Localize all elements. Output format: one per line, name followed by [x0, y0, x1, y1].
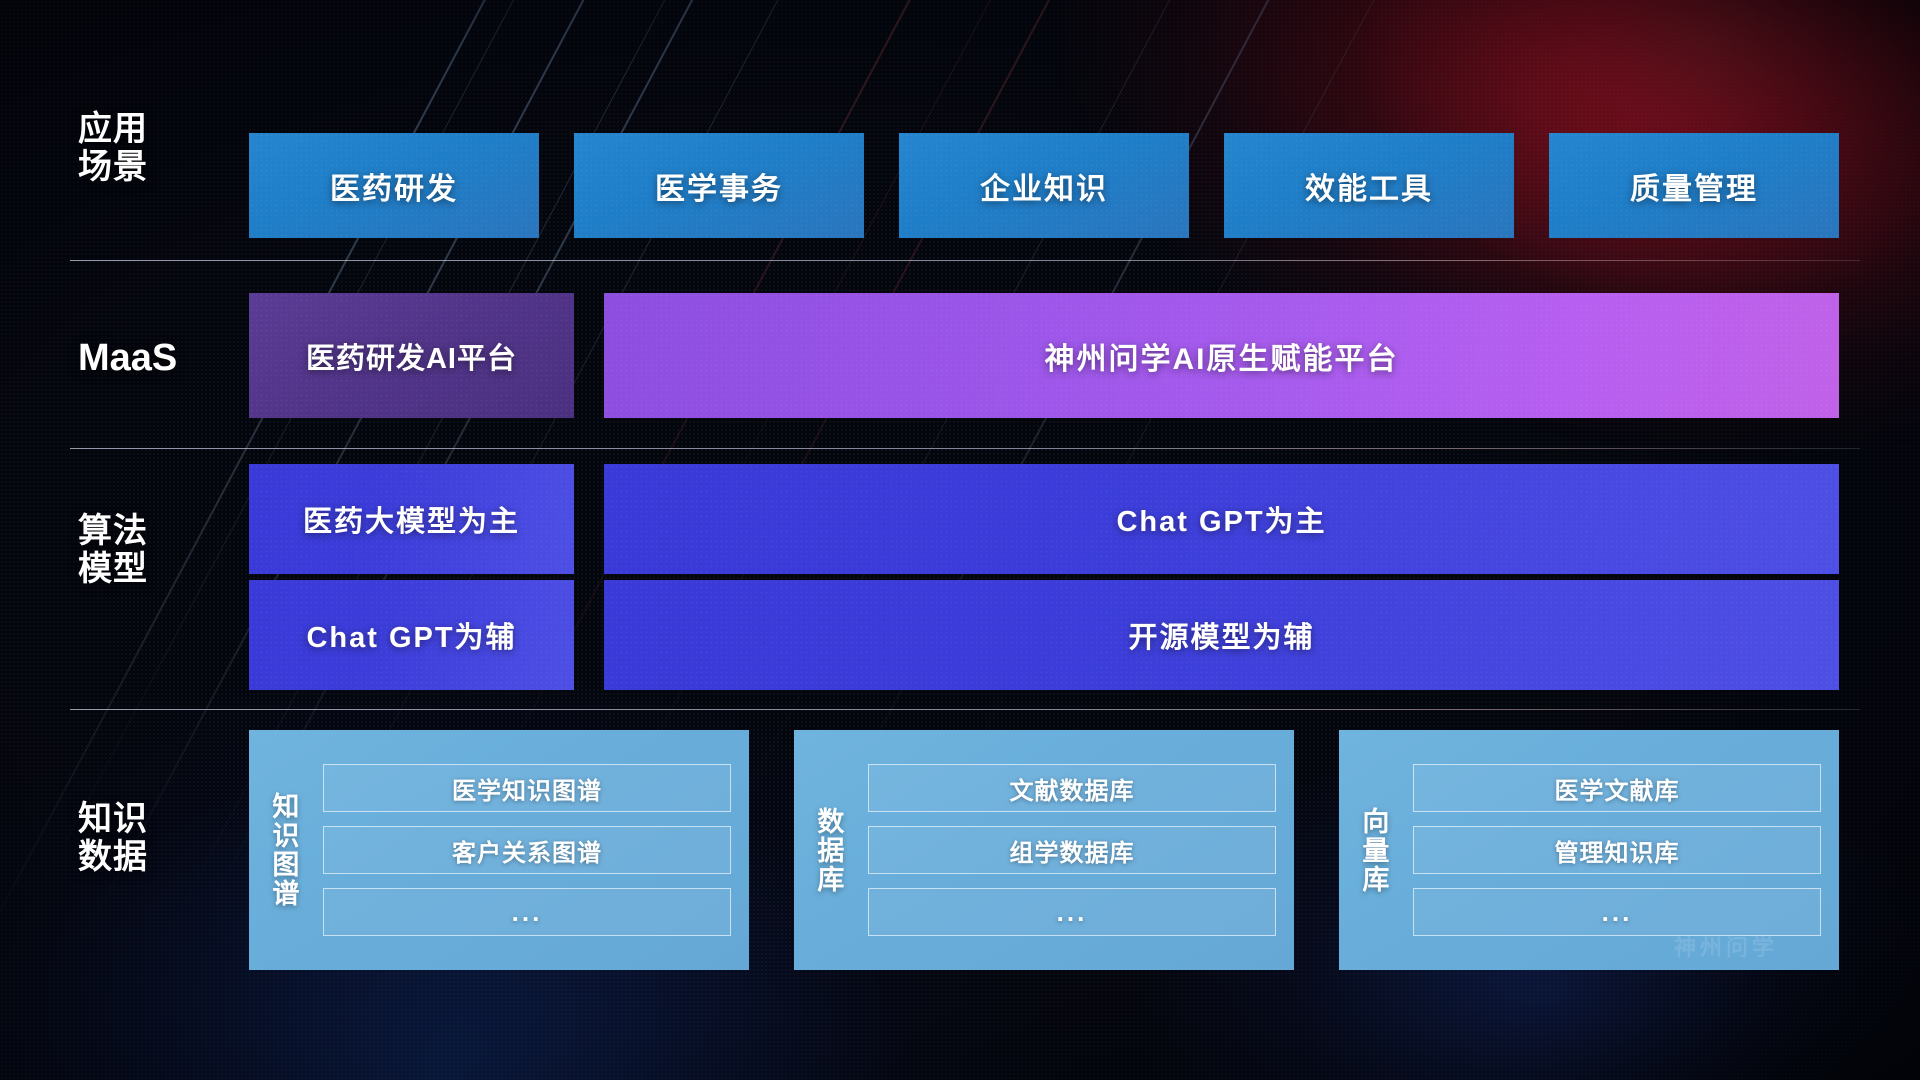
tier-label-line-1: 应用	[78, 110, 228, 148]
knowledge-group-title: 数据库	[794, 730, 862, 970]
app-box-label: 医学事务	[655, 164, 783, 208]
algo-box-label: 医药大模型为主	[303, 498, 520, 540]
tier-label-algorithm-model: 算法 模型	[78, 512, 228, 588]
knowledge-item-more[interactable]: ...	[323, 888, 731, 936]
knowledge-group-knowledge-graph[interactable]: 知识图谱 医学知识图谱 客户关系图谱 ...	[249, 730, 749, 970]
maas-box-shenzhou-wenxue-platform[interactable]: 神州问学AI原生赋能平台	[604, 293, 1839, 418]
knowledge-group-items: 医学知识图谱 客户关系图谱 ...	[317, 730, 749, 970]
architecture-diagram: 应用 场景 医药研发 医学事务 企业知识 效能工具 质量管理 MaaS 医药研发…	[0, 0, 1920, 1080]
algo-box-opensource-secondary[interactable]: 开源模型为辅	[604, 580, 1839, 690]
tier-label-line-2: 数据	[78, 838, 228, 876]
algo-box-label: 开源模型为辅	[1128, 614, 1314, 656]
tier-label-line-2: 场景	[78, 148, 228, 186]
tier-label-line-2: 模型	[78, 550, 228, 588]
app-box-label: 效能工具	[1305, 164, 1433, 208]
watermark: 神州问学	[1674, 930, 1778, 962]
tier-label-line-1: 算法	[78, 512, 228, 550]
maas-box-drug-rd-ai-platform[interactable]: 医药研发AI平台	[249, 293, 574, 418]
knowledge-group-title: 向量库	[1339, 730, 1407, 970]
knowledge-item[interactable]: 组学数据库	[868, 826, 1276, 874]
tier-divider-2	[70, 448, 1860, 449]
algo-box-label: Chat GPT为辅	[306, 614, 516, 656]
knowledge-item[interactable]: 医学知识图谱	[323, 764, 731, 812]
tier-label-line-1: MaaS	[78, 337, 228, 380]
tier-label-line-1: 知识	[78, 800, 228, 838]
algo-box-label: Chat GPT为主	[1116, 498, 1326, 540]
app-box-label: 医药研发	[330, 164, 458, 208]
app-box-quality-management[interactable]: 质量管理	[1549, 133, 1839, 238]
knowledge-group-database[interactable]: 数据库 文献数据库 组学数据库 ...	[794, 730, 1294, 970]
tier-label-knowledge-data: 知识 数据	[78, 800, 228, 876]
app-box-label: 质量管理	[1630, 164, 1758, 208]
app-box-drug-rd[interactable]: 医药研发	[249, 133, 539, 238]
maas-box-label: 神州问学AI原生赋能平台	[1045, 334, 1399, 378]
app-box-efficiency-tools[interactable]: 效能工具	[1224, 133, 1514, 238]
algo-box-chatgpt-primary[interactable]: Chat GPT为主	[604, 464, 1839, 574]
tier-label-application-scenarios: 应用 场景	[78, 110, 228, 186]
maas-box-label: 医药研发AI平台	[306, 335, 517, 377]
knowledge-item[interactable]: 管理知识库	[1413, 826, 1821, 874]
algo-box-chatgpt-secondary[interactable]: Chat GPT为辅	[249, 580, 574, 690]
tier-divider-1	[70, 260, 1860, 261]
knowledge-group-items: 文献数据库 组学数据库 ...	[862, 730, 1294, 970]
knowledge-item-more[interactable]: ...	[1413, 888, 1821, 936]
app-box-enterprise-knowledge[interactable]: 企业知识	[899, 133, 1189, 238]
tier-divider-3	[70, 709, 1860, 710]
tier-label-maas: MaaS	[78, 337, 228, 380]
algo-box-pharma-llm-primary[interactable]: 医药大模型为主	[249, 464, 574, 574]
knowledge-item[interactable]: 文献数据库	[868, 764, 1276, 812]
knowledge-item[interactable]: 医学文献库	[1413, 764, 1821, 812]
knowledge-item-more[interactable]: ...	[868, 888, 1276, 936]
knowledge-group-title: 知识图谱	[249, 730, 317, 970]
knowledge-item[interactable]: 客户关系图谱	[323, 826, 731, 874]
app-box-medical-affairs[interactable]: 医学事务	[574, 133, 864, 238]
app-box-label: 企业知识	[980, 164, 1108, 208]
